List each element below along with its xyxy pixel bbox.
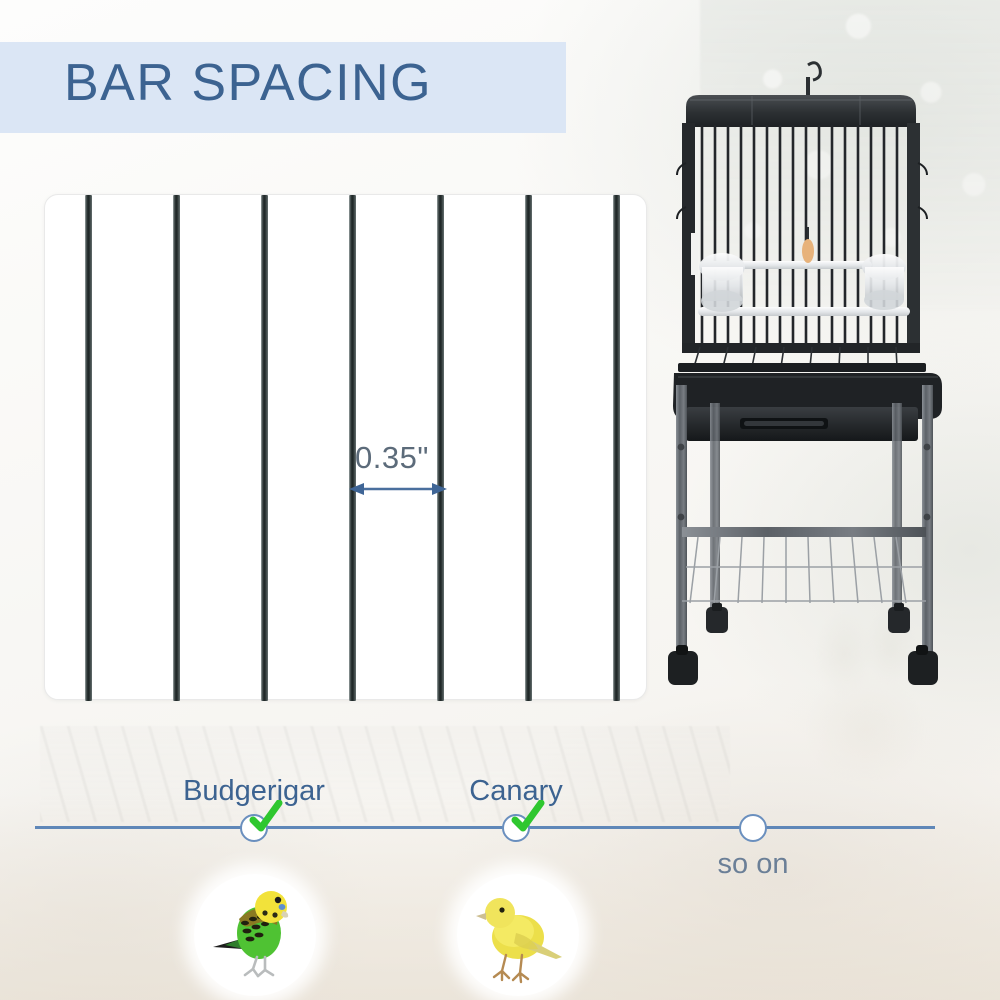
bar-spacing-measurement-label: 0.35" (355, 440, 429, 476)
cage-roof (686, 95, 916, 127)
bird-thumbnail-canary (458, 875, 578, 995)
bar-spacing-panel (44, 194, 647, 700)
compatibility-timeline (35, 826, 935, 829)
bar-spacing-dimension-arrow (348, 478, 448, 500)
timeline-node-so-on[interactable]: so on (739, 814, 767, 842)
cage-bar (613, 195, 620, 701)
cage-bar (525, 195, 532, 701)
stand-caster-wheels (668, 603, 938, 685)
timeline-node-budgerigar[interactable]: Budgerigar (240, 814, 268, 842)
product-photo-bird-cage-with-stand (660, 55, 960, 745)
timeline-node-canary[interactable]: Canary (502, 814, 530, 842)
timeline-label-so-on: so on (718, 848, 789, 881)
cage-bar (261, 195, 268, 701)
cage-bar (85, 195, 92, 701)
cage-floor-grille (678, 343, 926, 372)
stand-pullout-tray (686, 407, 918, 441)
cage-bar (437, 195, 444, 701)
background-railing (40, 726, 730, 822)
cage-swing-toy (802, 227, 814, 263)
page-title: BAR SPACING (64, 53, 432, 113)
cage-bar (173, 195, 180, 701)
timeline-label-canary: Canary (469, 775, 563, 808)
cage-wire-bars (702, 125, 897, 351)
timeline-marker-circle (739, 814, 767, 842)
canary-image (458, 875, 578, 995)
bird-thumbnail-budgerigar (195, 875, 315, 995)
timeline-label-budgerigar: Budgerigar (183, 775, 325, 808)
budgerigar-image (195, 875, 315, 995)
